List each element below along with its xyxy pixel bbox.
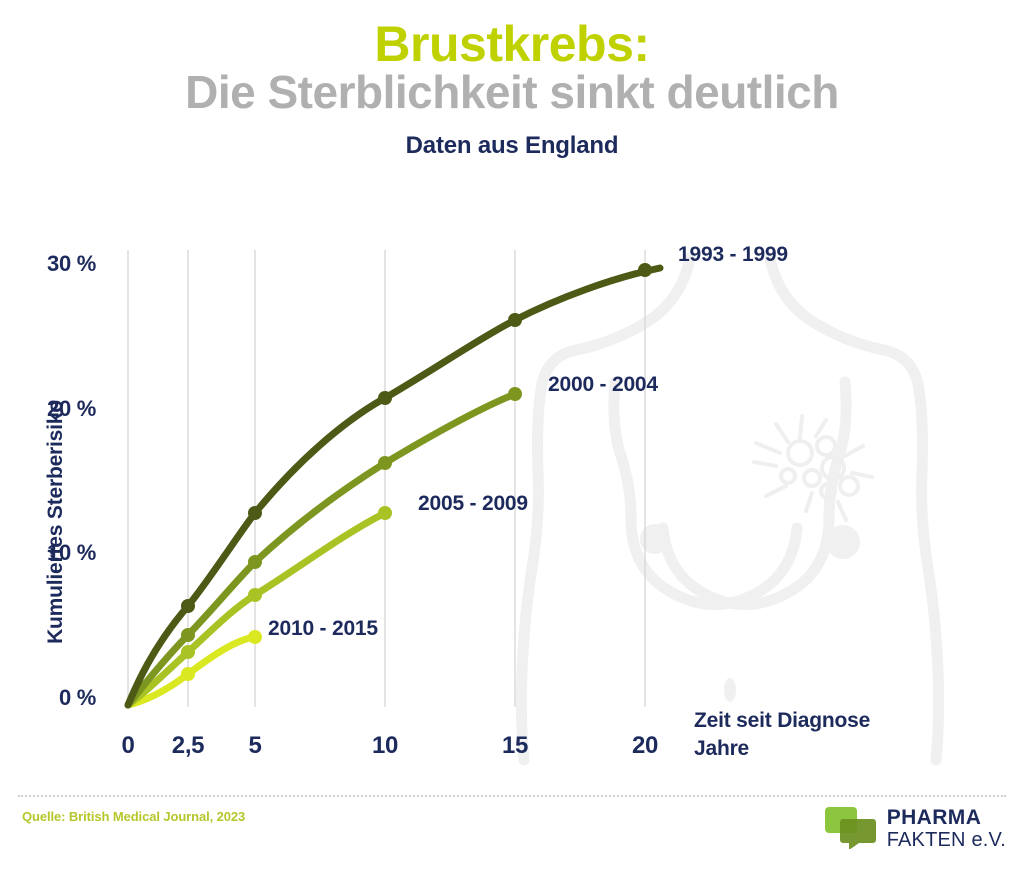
x-tick-label-2.5: 2,5: [158, 732, 218, 760]
footer: Quelle: British Medical Journal, 2023 PH…: [0, 795, 1024, 869]
page-title: Brustkrebs:: [0, 18, 1024, 70]
y-tick-label-20: 20 %: [10, 396, 96, 422]
infographic-root: Brustkrebs: Die Sterblichkeit sinkt deut…: [0, 0, 1024, 869]
y-axis-title: Kumuliertes Sterberisiko: [44, 392, 68, 652]
footer-divider: [18, 795, 1006, 797]
data-point: [248, 588, 262, 602]
series-line-1993-1999: [128, 263, 660, 705]
source-note: Quelle: British Medical Journal, 2023: [22, 809, 245, 824]
data-point: [378, 456, 392, 470]
data-point: [181, 645, 195, 659]
y-tick-label-0: 0 %: [10, 685, 96, 711]
chart-caption: Daten aus England: [0, 132, 1024, 160]
data-point: [181, 628, 195, 642]
series-label-1993-1999: 1993 - 1999: [678, 243, 788, 267]
data-point: [508, 313, 522, 327]
data-point: [181, 667, 195, 681]
y-tick-label-10: 10 %: [10, 540, 96, 566]
chart-area: Kumuliertes Sterberisiko 30 % 20 % 10 % …: [0, 210, 1024, 790]
series-label-2010-2015: 2010 - 2015: [268, 617, 378, 641]
series-label-2000-2004: 2000 - 2004: [548, 373, 658, 397]
logo-text-pharma: PHARMA: [887, 807, 1006, 828]
data-point: [248, 630, 262, 644]
x-tick-label-0: 0: [98, 732, 158, 760]
page-subtitle: Die Sterblichkeit sinkt deutlich: [0, 68, 1024, 118]
x-axis-title-line1: Zeit seit Diagnose: [694, 707, 870, 735]
x-tick-label-10: 10: [355, 732, 415, 760]
logo-wordmark: PHARMA FAKTEN e.V.: [887, 807, 1006, 850]
data-point: [378, 506, 392, 520]
data-point: [638, 263, 652, 277]
series-line-2005-2009: [128, 506, 392, 705]
data-point: [248, 506, 262, 520]
pharma-fakten-logo: PHARMA FAKTEN e.V.: [825, 803, 1006, 853]
data-point: [181, 599, 195, 613]
x-tick-label-15: 15: [485, 732, 545, 760]
data-point: [378, 391, 392, 405]
data-point: [508, 387, 522, 401]
data-point: [248, 555, 262, 569]
logo-text-fakten: FAKTEN e.V.: [887, 830, 1006, 850]
series-label-2005-2009: 2005 - 2009: [418, 492, 528, 516]
x-tick-label-20: 20: [615, 732, 675, 760]
x-tick-label-5: 5: [225, 732, 285, 760]
x-axis-title: Zeit seit Diagnose Jahre: [694, 707, 870, 762]
title-block: Brustkrebs: Die Sterblichkeit sinkt deut…: [0, 18, 1024, 160]
tumor-cluster-icon: [754, 416, 872, 520]
x-axis-title-line2: Jahre: [694, 735, 870, 763]
logo-speech-bubble-icon: [825, 807, 877, 849]
y-tick-label-30: 30 %: [10, 251, 96, 277]
